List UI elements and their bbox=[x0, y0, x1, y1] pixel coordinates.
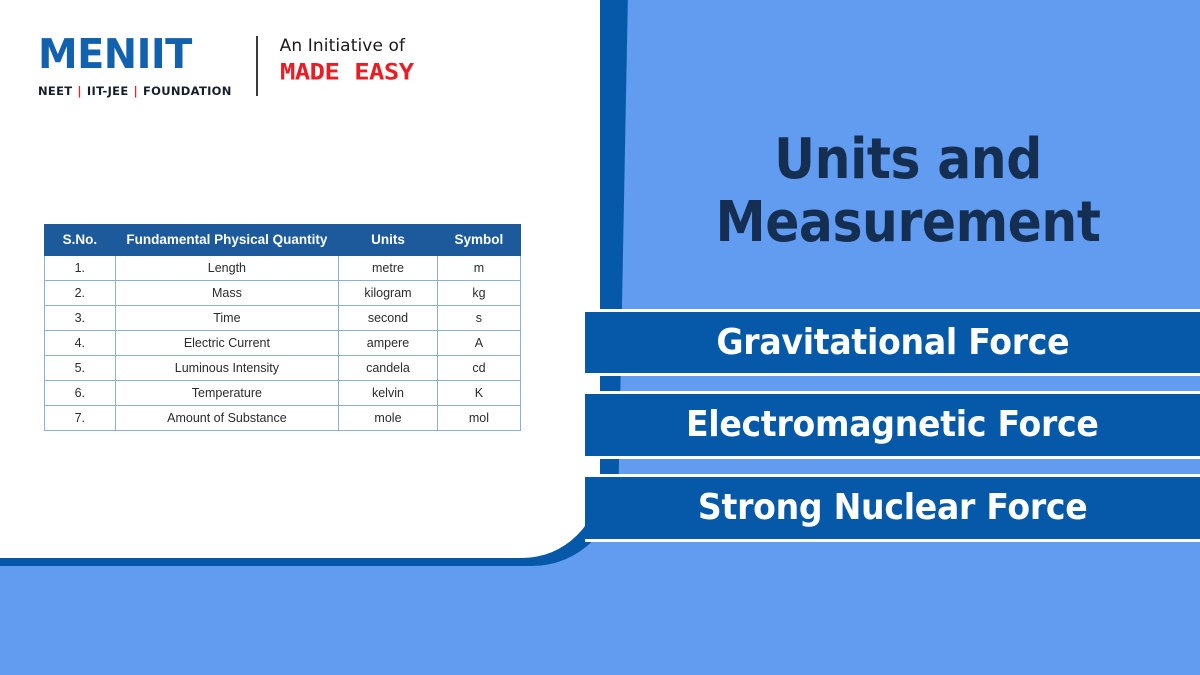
row-quantity: Time bbox=[115, 306, 338, 331]
column-header-quantity: Fundamental Physical Quantity bbox=[115, 225, 338, 256]
row-quantity: Mass bbox=[115, 281, 338, 306]
made-easy-logo: An Initiative of MADE EASY bbox=[280, 34, 411, 87]
si-units-table-wrapper: S.No. Fundamental Physical Quantity Unit… bbox=[44, 224, 521, 431]
row-quantity: Luminous Intensity bbox=[115, 356, 338, 381]
row-sno: 6. bbox=[45, 381, 116, 406]
row-symbol: kg bbox=[437, 281, 520, 306]
made-easy-wordmark: MADE EASY bbox=[280, 60, 414, 84]
column-header-sno: S.No. bbox=[45, 225, 116, 256]
row-sno: 5. bbox=[45, 356, 116, 381]
row-symbol: K bbox=[437, 381, 520, 406]
banner-strong-nuclear-force[interactable]: Strong Nuclear Force bbox=[585, 474, 1200, 542]
table-row: 5.Luminous Intensitycandelacd bbox=[45, 356, 521, 381]
row-sno: 7. bbox=[45, 406, 116, 431]
row-unit: ampere bbox=[339, 331, 438, 356]
column-header-symbol: Symbol bbox=[437, 225, 520, 256]
meniit-tagline: NEET | IIT-JEE | FOUNDATION bbox=[38, 84, 232, 98]
table-row: 3.Timeseconds bbox=[45, 306, 521, 331]
row-unit: kelvin bbox=[339, 381, 438, 406]
banner-electromagnetic-force[interactable]: Electromagnetic Force bbox=[585, 391, 1200, 459]
si-units-table: S.No. Fundamental Physical Quantity Unit… bbox=[44, 224, 521, 431]
row-quantity: Amount of Substance bbox=[115, 406, 338, 431]
row-unit: second bbox=[339, 306, 438, 331]
row-unit: candela bbox=[339, 356, 438, 381]
slide-canvas: MENIIT NEET | IIT-JEE | FOUNDATION An In… bbox=[0, 0, 1200, 675]
column-header-units: Units bbox=[339, 225, 438, 256]
row-quantity: Electric Current bbox=[115, 331, 338, 356]
table-header-row: S.No. Fundamental Physical Quantity Unit… bbox=[45, 225, 521, 256]
tagline-foundation: FOUNDATION bbox=[143, 84, 232, 98]
row-sno: 1. bbox=[45, 256, 116, 281]
initiative-label: An Initiative of bbox=[280, 36, 405, 56]
row-unit: metre bbox=[339, 256, 438, 281]
meniit-wordmark: MENIIT bbox=[38, 34, 192, 75]
banner-label: Electromagnetic Force bbox=[686, 405, 1099, 445]
row-quantity: Length bbox=[115, 256, 338, 281]
table-row: 6.TemperaturekelvinK bbox=[45, 381, 521, 406]
row-quantity: Temperature bbox=[115, 381, 338, 406]
row-sno: 4. bbox=[45, 331, 116, 356]
row-sno: 2. bbox=[45, 281, 116, 306]
banner-label: Gravitational Force bbox=[716, 323, 1069, 363]
logo-lockup: MENIIT NEET | IIT-JEE | FOUNDATION An In… bbox=[38, 34, 411, 98]
tagline-separator-2: | bbox=[133, 84, 138, 98]
row-unit: mole bbox=[339, 406, 438, 431]
table-body: 1.Lengthmetrem2.Masskilogramkg3.Timeseco… bbox=[45, 256, 521, 431]
logo-divider bbox=[256, 36, 258, 96]
tagline-separator-1: | bbox=[77, 84, 82, 98]
row-sno: 3. bbox=[45, 306, 116, 331]
tagline-neet: NEET bbox=[38, 84, 72, 98]
row-symbol: m bbox=[437, 256, 520, 281]
row-symbol: cd bbox=[437, 356, 520, 381]
banner-gravitational-force[interactable]: Gravitational Force bbox=[585, 309, 1200, 376]
meniit-logo: MENIIT NEET | IIT-JEE | FOUNDATION bbox=[38, 34, 232, 98]
table-row: 2.Masskilogramkg bbox=[45, 281, 521, 306]
page-title-line-1: Units and bbox=[774, 127, 1042, 192]
tagline-iit-jee: IIT-JEE bbox=[87, 84, 129, 98]
page-title-line-2: Measurement bbox=[656, 191, 1160, 254]
page-title: Units and Measurement bbox=[656, 128, 1160, 254]
table-row: 7.Amount of Substancemolemol bbox=[45, 406, 521, 431]
row-symbol: s bbox=[437, 306, 520, 331]
banner-label: Strong Nuclear Force bbox=[698, 488, 1088, 528]
row-symbol: mol bbox=[437, 406, 520, 431]
table-row: 4.Electric CurrentampereA bbox=[45, 331, 521, 356]
row-symbol: A bbox=[437, 331, 520, 356]
table-row: 1.Lengthmetrem bbox=[45, 256, 521, 281]
row-unit: kilogram bbox=[339, 281, 438, 306]
